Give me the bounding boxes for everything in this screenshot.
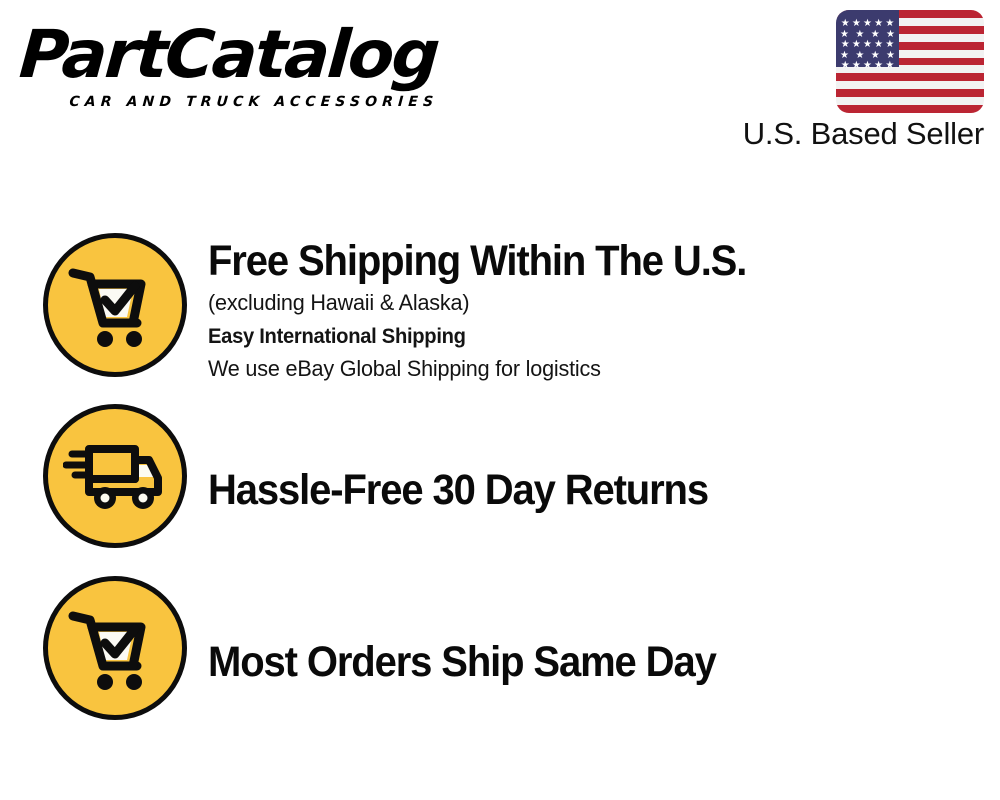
brand-wordmark: PartCatalog	[17, 22, 501, 88]
brand-logo[interactable]: PartCatalog CAR AND TRUCK ACCESSORIES	[22, 22, 492, 117]
feature-title: Free Shipping Within The U.S.	[208, 235, 945, 287]
us-based-seller-badge: ★★★★★ ★★★★ ★★★★★ ★★★★ ★★★★★ U.S. Based S…	[684, 10, 984, 151]
flag-star-icon: ★	[863, 60, 872, 71]
flag-star-icon: ★	[874, 60, 883, 71]
shopping-cart-check-icon	[43, 576, 187, 720]
feature-row: Free Shipping Within The U.S. (excluding…	[0, 233, 1000, 405]
flag-canton: ★★★★★ ★★★★ ★★★★★ ★★★★ ★★★★★	[836, 10, 899, 67]
delivery-truck-icon	[43, 404, 187, 548]
shopping-cart-check-icon	[43, 233, 187, 377]
feature-title: Hassle-Free 30 Day Returns	[208, 464, 945, 516]
page-header: PartCatalog CAR AND TRUCK ACCESSORIES ★★…	[0, 0, 1000, 175]
feature-subline: We use eBay Global Shipping for logistic…	[208, 353, 968, 384]
us-flag-icon: ★★★★★ ★★★★ ★★★★★ ★★★★ ★★★★★	[836, 10, 984, 113]
feature-title: Most Orders Ship Same Day	[208, 636, 945, 688]
flag-star-icon: ★	[885, 60, 894, 71]
brand-tagline: CAR AND TRUCK ACCESSORIES	[69, 94, 439, 110]
feature-row: Most Orders Ship Same Day	[0, 576, 1000, 748]
feature-subline: Easy International Shipping	[208, 321, 968, 353]
feature-row: Hassle-Free 30 Day Returns	[0, 404, 1000, 576]
feature-text-block: Hassle-Free 30 Day Returns	[208, 464, 1000, 516]
feature-text-block: Free Shipping Within The U.S. (excluding…	[208, 233, 1000, 384]
feature-subline: (excluding Hawaii & Alaska)	[208, 287, 968, 318]
feature-text-block: Most Orders Ship Same Day	[208, 636, 1000, 688]
us-based-seller-label: U.S. Based Seller	[684, 117, 984, 151]
flag-star-icon: ★	[852, 60, 861, 71]
flag-star-icon: ★	[841, 60, 850, 71]
